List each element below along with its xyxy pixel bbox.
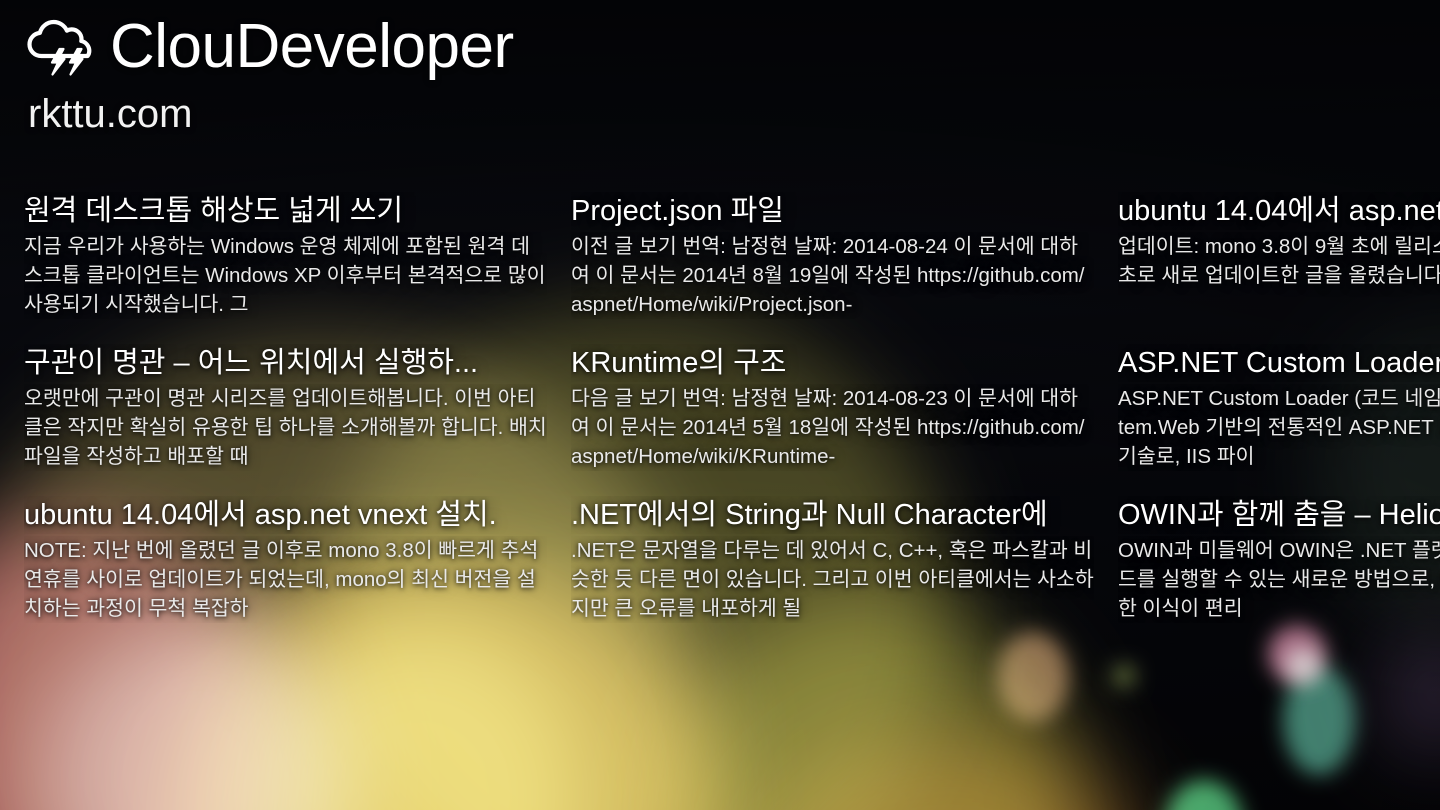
post-item[interactable]: ASP.NET Custom Loader ASP.NET Custom Loa… <box>1118 344 1440 471</box>
post-excerpt: 이전 글 보기 번역: 남정현 날짜: 2014-08-24 이 문서에 대하여… <box>571 232 1094 319</box>
brand-subtitle: rkttu.com <box>28 92 514 136</box>
post-item[interactable]: ubuntu 14.04에서 asp.net vnext 설치. NOTE: 지… <box>24 496 547 623</box>
app-root: ClouDeveloper rkttu.com 원격 데스크톱 해상도 넓게 쓰… <box>0 0 1440 810</box>
site-header: ClouDeveloper rkttu.com <box>24 8 514 136</box>
post-item[interactable]: KRuntime의 구조 다음 글 보기 번역: 남정현 날짜: 2014-08… <box>571 344 1094 471</box>
post-title[interactable]: ubuntu 14.04에서 asp.net vnext 설치. <box>24 496 547 534</box>
post-excerpt: NOTE: 지난 번에 올렸던 글 이후로 mono 3.8이 빠르게 추석 연… <box>24 536 547 623</box>
bokeh-dot-olive-small <box>1113 665 1135 687</box>
post-title[interactable]: 원격 데스크톱 해상도 넓게 쓰기 <box>24 192 547 230</box>
post-excerpt: ASP.NET Custom Loader (코드 네임: Helios)는 기… <box>1118 384 1440 471</box>
post-title[interactable]: OWIN과 함께 춤을 – Helios <box>1118 496 1440 534</box>
post-columns: 원격 데스크톱 해상도 넓게 쓰기 지금 우리가 사용하는 Windows 운영… <box>24 192 1440 648</box>
post-column-1: 원격 데스크톱 해상도 넓게 쓰기 지금 우리가 사용하는 Windows 운영… <box>24 192 547 648</box>
post-excerpt: OWIN과 미들웨어 OWIN은 .NET 플랫폼 상에서 이용하여 코드를 실… <box>1118 536 1440 623</box>
post-item[interactable]: ubuntu 14.04에서 asp.net vnext 설치. 업데이트: m… <box>1118 192 1440 319</box>
post-excerpt: 오랫만에 구관이 명관 시리즈를 업데이트해봅니다. 이번 아티클은 작지만 확… <box>24 384 547 471</box>
post-title[interactable]: .NET에서의 String과 Null Character에 <box>571 496 1094 534</box>
post-item[interactable]: OWIN과 함께 춤을 – Helios OWIN과 미들웨어 OWIN은 .N… <box>1118 496 1440 623</box>
cloud-lightning-icon <box>24 18 96 76</box>
post-item[interactable]: .NET에서의 String과 Null Character에 .NET은 문자… <box>571 496 1094 623</box>
bokeh-dot-white-right <box>1286 648 1320 682</box>
post-title[interactable]: ASP.NET Custom Loader <box>1118 344 1440 382</box>
brand-row[interactable]: ClouDeveloper <box>24 8 514 86</box>
post-excerpt: 지금 우리가 사용하는 Windows 운영 체제에 포함된 원격 데스크톱 클… <box>24 232 547 319</box>
brand-title: ClouDeveloper <box>110 14 514 80</box>
post-title[interactable]: Project.json 파일 <box>571 192 1094 230</box>
bokeh-dot-violet-edge <box>1390 640 1440 750</box>
post-title[interactable]: ubuntu 14.04에서 asp.net vnext 설치. <box>1118 192 1440 230</box>
post-item[interactable]: Project.json 파일 이전 글 보기 번역: 남정현 날짜: 2014… <box>571 192 1094 319</box>
post-excerpt: 다음 글 보기 번역: 남정현 날짜: 2014-08-23 이 문서에 대하여… <box>571 384 1094 471</box>
post-column-2: Project.json 파일 이전 글 보기 번역: 남정현 날짜: 2014… <box>571 192 1094 648</box>
post-title[interactable]: 구관이 명관 – 어느 위치에서 실행하... <box>24 344 547 382</box>
post-item[interactable]: 구관이 명관 – 어느 위치에서 실행하... 오랫만에 구관이 명관 시리즈를… <box>24 344 547 471</box>
post-item[interactable]: 원격 데스크톱 해상도 넓게 쓰기 지금 우리가 사용하는 Windows 운영… <box>24 192 547 319</box>
post-title[interactable]: KRuntime의 구조 <box>571 344 1094 382</box>
post-column-3: ubuntu 14.04에서 asp.net vnext 설치. 업데이트: m… <box>1118 192 1440 648</box>
post-excerpt: 업데이트: mono 3.8이 9월 초에 릴리스되었으며 이 내용을 기초로 … <box>1118 232 1440 319</box>
bokeh-dot-green-large <box>1165 780 1243 810</box>
post-excerpt: .NET은 문자열을 다루는 데 있어서 C, C++, 혹은 파스칼과 비슷한… <box>571 536 1094 623</box>
